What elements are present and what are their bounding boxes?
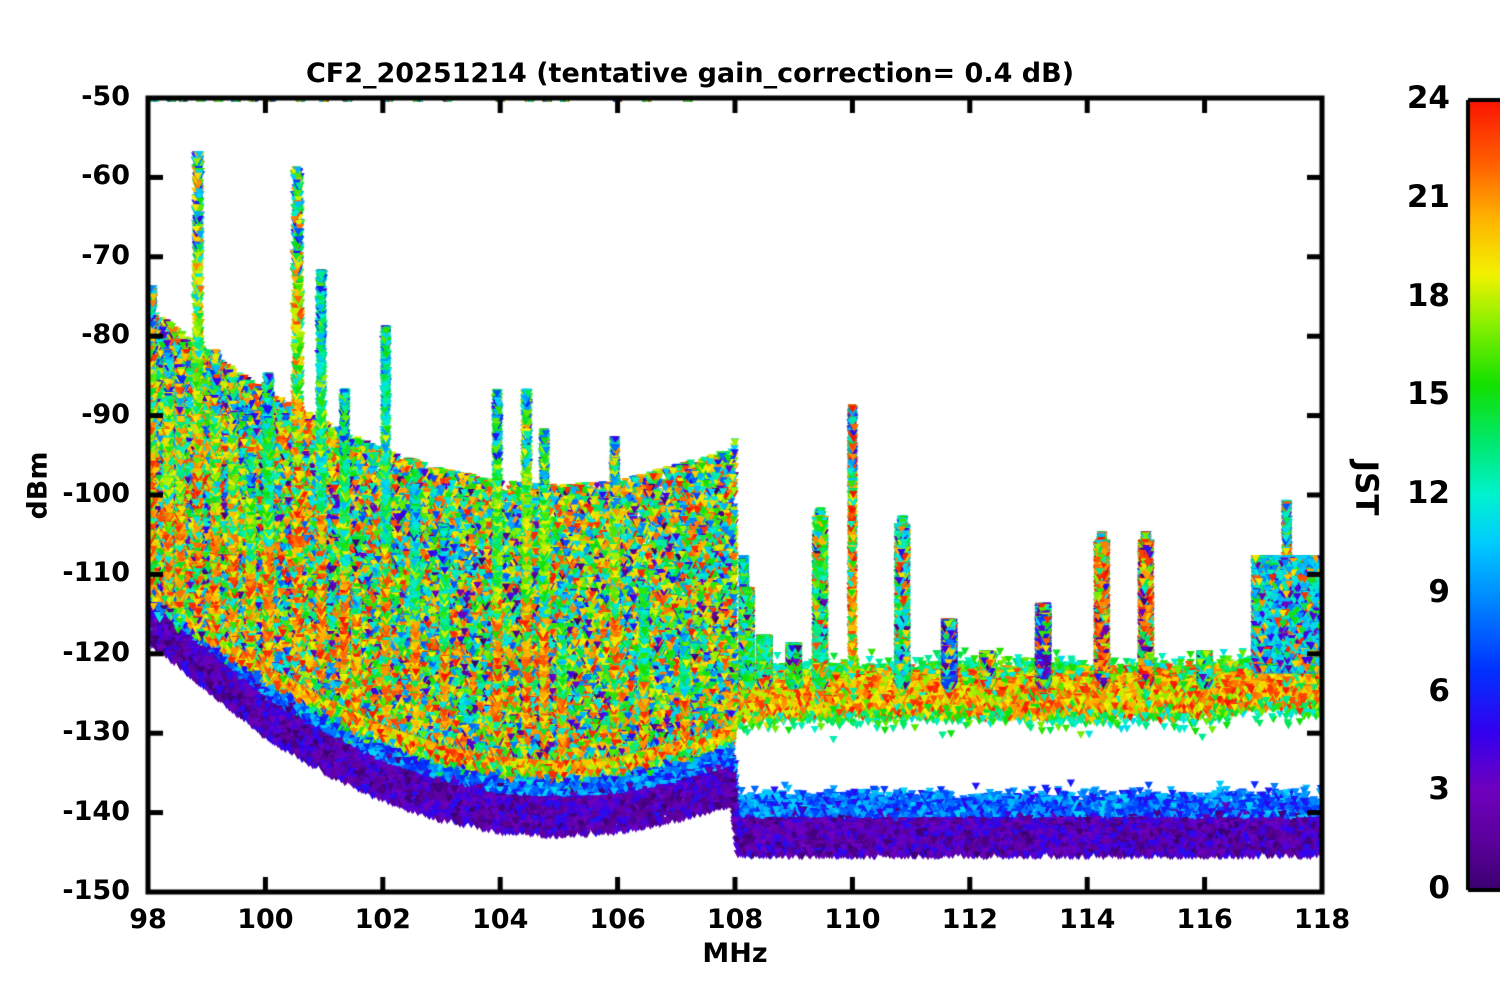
- x-tick-label: 102: [323, 904, 443, 935]
- plot-title: CF2_20251214 (tentative gain_correction=…: [0, 58, 1380, 89]
- figure-root: CF2_20251214 (tentative gain_correction=…: [0, 0, 1500, 1000]
- x-axis-label: MHz: [0, 938, 1470, 969]
- y-tick-label: -90: [10, 399, 130, 430]
- y-tick-label: -50: [10, 81, 130, 112]
- y-tick-label: -70: [10, 240, 130, 271]
- colorbar-tick-label: 18: [1370, 278, 1450, 314]
- colorbar-tick-label: 0: [1370, 870, 1450, 906]
- x-tick-label: 110: [792, 904, 912, 935]
- colorbar-tick-label: 21: [1370, 179, 1450, 215]
- y-tick-label: -130: [10, 716, 130, 747]
- y-tick-label: -60: [10, 160, 130, 191]
- x-tick-label: 114: [1027, 904, 1147, 935]
- y-tick-label: -80: [10, 319, 130, 350]
- y-tick-label: -120: [10, 637, 130, 668]
- colorbar-tick-label: 24: [1370, 80, 1450, 116]
- x-tick-label: 108: [675, 904, 795, 935]
- x-tick-label: 116: [1145, 904, 1265, 935]
- y-tick-label: -150: [10, 875, 130, 906]
- colorbar-tick-label: 9: [1370, 574, 1450, 610]
- x-tick-label: 98: [88, 904, 208, 935]
- colorbar-tick-label: 12: [1370, 475, 1450, 511]
- x-tick-label: 118: [1262, 904, 1382, 935]
- y-tick-label: -110: [10, 557, 130, 588]
- y-tick-label: -140: [10, 796, 130, 827]
- x-tick-label: 100: [205, 904, 325, 935]
- spectrum-scatter-plot: [0, 0, 1500, 1000]
- x-tick-label: 106: [558, 904, 678, 935]
- x-tick-label: 112: [910, 904, 1030, 935]
- colorbar-tick-label: 3: [1370, 771, 1450, 807]
- colorbar-tick-label: 6: [1370, 673, 1450, 709]
- y-tick-label: -100: [10, 478, 130, 509]
- x-tick-label: 104: [440, 904, 560, 935]
- colorbar-tick-label: 15: [1370, 376, 1450, 412]
